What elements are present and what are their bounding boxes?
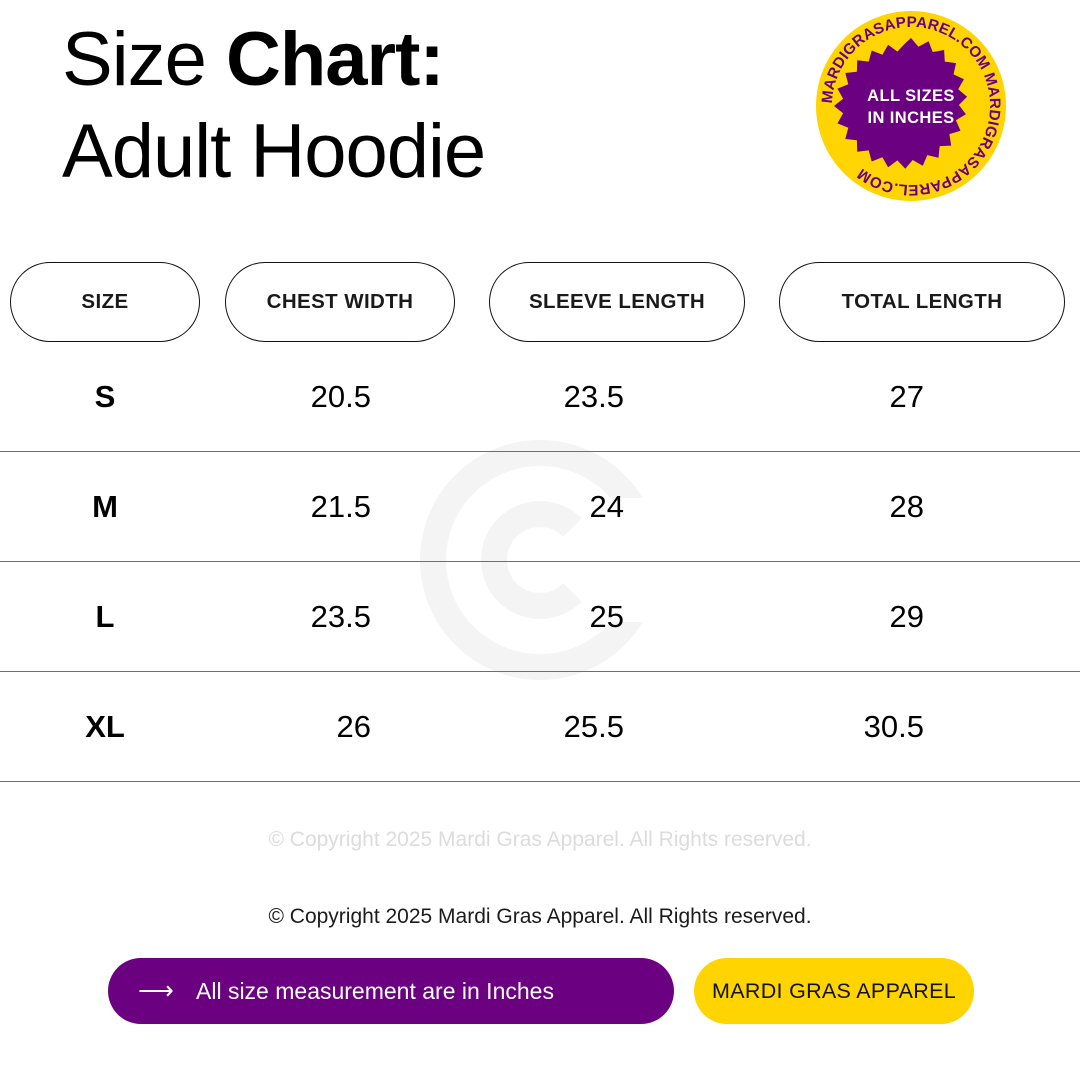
brand-button-label: MARDI GRAS APPAREL — [712, 979, 956, 1004]
column-header-total-length-label: TOTAL LENGTH — [842, 290, 1003, 314]
column-header-sleeve-length: SLEEVE LENGTH — [489, 262, 745, 342]
column-header-total-length: TOTAL LENGTH — [779, 262, 1065, 342]
size-chart-table: SIZE CHEST WIDTH SLEEVE LENGTH TOTAL LEN… — [0, 262, 1080, 782]
column-header-size-label: SIZE — [81, 290, 128, 314]
cell-chest-width: 26 — [225, 672, 371, 782]
table-row: S 20.5 23.5 27 — [0, 342, 1080, 452]
cell-size: XL — [10, 672, 200, 782]
column-header-sleeve-length-label: SLEEVE LENGTH — [529, 290, 705, 314]
size-chart-page: Size Chart: Adult Hoodie MARDIGRASAPPARE… — [0, 0, 1080, 1080]
column-header-chest-width-label: CHEST WIDTH — [267, 290, 414, 314]
all-sizes-in-inches-badge: MARDIGRASAPPAREL.COM MARDIGRASAPPAREL.CO… — [811, 6, 1011, 206]
all-size-measurement-button[interactable]: ⟶ All size measurement are in Inches — [108, 958, 674, 1024]
cell-size: S — [10, 342, 200, 452]
page-title: Size Chart: Adult Hoodie — [62, 14, 485, 198]
cell-sleeve-length: 25.5 — [489, 672, 624, 782]
table-header-row: SIZE CHEST WIDTH SLEEVE LENGTH TOTAL LEN… — [0, 262, 1080, 342]
copyright-notice: © Copyright 2025 Mardi Gras Apparel. All… — [0, 905, 1080, 929]
cell-sleeve-length: 24 — [489, 452, 624, 562]
page-title-line-2: Adult Hoodie — [62, 106, 485, 198]
table-row: M 21.5 24 28 — [0, 452, 1080, 562]
page-title-line-1: Size Chart: — [62, 14, 485, 106]
cell-size: M — [10, 452, 200, 562]
cell-total-length: 30.5 — [779, 672, 924, 782]
cell-total-length: 28 — [779, 452, 924, 562]
column-header-chest-width: CHEST WIDTH — [225, 262, 455, 342]
badge-center-line-2: IN INCHES — [867, 109, 954, 127]
copyright-notice-faint: © Copyright 2025 Mardi Gras Apparel. All… — [0, 828, 1080, 852]
table-row: L 23.5 25 29 — [0, 562, 1080, 672]
cell-chest-width: 21.5 — [225, 452, 371, 562]
cell-sleeve-length: 25 — [489, 562, 624, 672]
cell-sleeve-length: 23.5 — [489, 342, 624, 452]
page-title-word-size: Size — [62, 17, 226, 102]
cell-total-length: 29 — [779, 562, 924, 672]
column-header-size: SIZE — [10, 262, 200, 342]
badge-center-line-1: ALL SIZES — [867, 87, 955, 105]
all-size-measurement-button-label: All size measurement are in Inches — [196, 978, 554, 1005]
footer-button-bar: ⟶ All size measurement are in Inches MAR… — [0, 958, 1080, 1024]
table-row: XL 26 25.5 30.5 — [0, 672, 1080, 782]
brand-button[interactable]: MARDI GRAS APPAREL — [694, 958, 974, 1024]
page-title-word-chart: Chart: — [226, 17, 444, 102]
arrow-right-icon: ⟶ — [138, 979, 196, 1004]
cell-total-length: 27 — [779, 342, 924, 452]
cell-chest-width: 23.5 — [225, 562, 371, 672]
cell-chest-width: 20.5 — [225, 342, 371, 452]
cell-size: L — [10, 562, 200, 672]
